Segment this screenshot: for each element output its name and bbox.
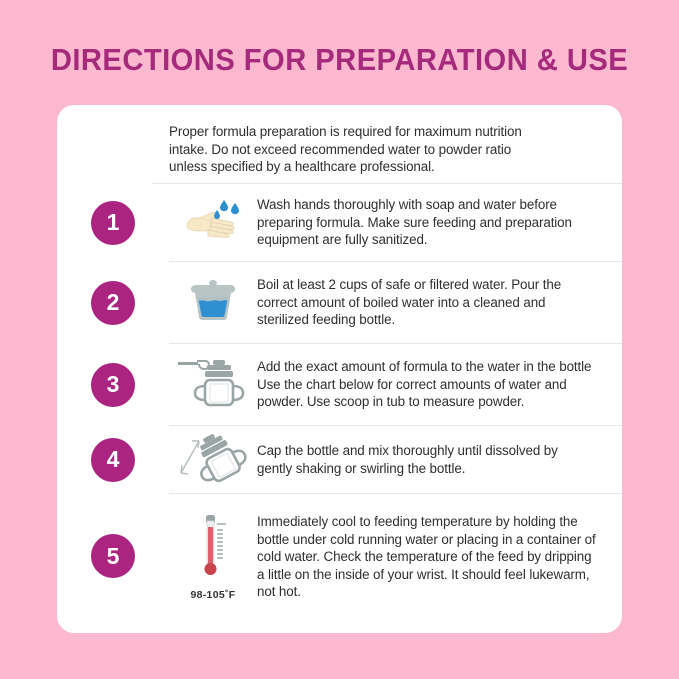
step-number-badge: 3 bbox=[91, 363, 135, 407]
step-number-container: 1 bbox=[57, 184, 169, 261]
list-item: 2 Boil at least 2 cups of safe or filter… bbox=[57, 261, 622, 343]
list-item: 1 bbox=[57, 183, 622, 261]
list-item: 4 bbox=[57, 425, 622, 493]
step-number-container: 4 bbox=[57, 425, 169, 493]
step-number-badge: 5 bbox=[91, 534, 135, 578]
step-text: Cap the bottle and mix thoroughly until … bbox=[257, 442, 622, 477]
step-text: Add the exact amount of formula to the w… bbox=[257, 358, 622, 411]
thermometer-icon bbox=[190, 511, 236, 586]
step-text: Immediately cool to feeding temperature … bbox=[257, 511, 622, 601]
divider-inset bbox=[57, 493, 152, 494]
shaking-bottle-icon bbox=[175, 431, 251, 488]
step-icon-container: 98-105˚F bbox=[169, 511, 257, 601]
boiling-pot-icon bbox=[184, 277, 242, 328]
step-text: Boil at least 2 cups of safe or filtered… bbox=[257, 276, 622, 329]
directions-card: Proper formula preparation is required f… bbox=[57, 105, 622, 633]
step-text: Wash hands thoroughly with soap and wate… bbox=[257, 196, 622, 249]
divider-inset bbox=[57, 425, 152, 426]
step-number-container: 3 bbox=[57, 343, 169, 425]
temperature-label: 98-105˚F bbox=[190, 589, 235, 601]
step-icon-container bbox=[169, 356, 257, 413]
divider-inset bbox=[57, 261, 152, 262]
step-number-container: 5 bbox=[57, 493, 169, 618]
divider-inset bbox=[57, 343, 152, 344]
step-number-badge: 4 bbox=[91, 438, 135, 482]
list-item: 3 bbox=[57, 343, 622, 425]
divider-inset bbox=[57, 183, 152, 184]
scoop-and-bottle-icon bbox=[175, 356, 251, 413]
step-number-badge: 1 bbox=[91, 201, 135, 245]
steps-list: 1 bbox=[57, 183, 622, 618]
page-title: DIRECTIONS FOR PREPARATION & USE bbox=[20, 42, 658, 78]
intro-text: Proper formula preparation is required f… bbox=[169, 123, 541, 176]
instruction-panel: DIRECTIONS FOR PREPARATION & USE Proper … bbox=[0, 0, 679, 679]
step-icon-container bbox=[169, 196, 257, 249]
washing-hands-icon bbox=[181, 196, 245, 249]
step-icon-container bbox=[169, 431, 257, 488]
list-item: 5 bbox=[57, 493, 622, 618]
step-icon-container bbox=[169, 277, 257, 328]
step-number-badge: 2 bbox=[91, 281, 135, 325]
step-number-container: 2 bbox=[57, 261, 169, 343]
